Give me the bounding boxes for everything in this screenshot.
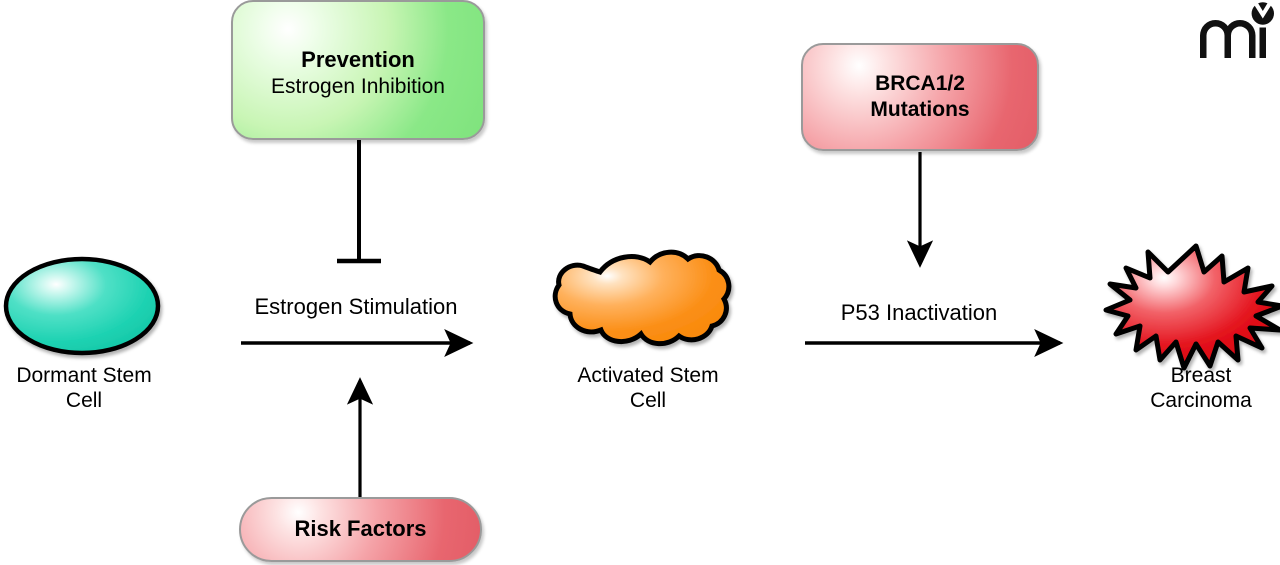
dormant-stem-cell-shape xyxy=(6,259,158,353)
risk-factors-box[interactable]: Risk Factors xyxy=(239,497,482,562)
mi-logo xyxy=(1197,2,1277,60)
brca-box-title: BRCA1/2 xyxy=(875,71,965,97)
diagram-canvas: Prevention Estrogen Inhibition BRCA1/2 M… xyxy=(0,0,1280,565)
prevention-box-subtitle: Estrogen Inhibition xyxy=(271,74,445,100)
estrogen-stimulation-label: Estrogen Stimulation xyxy=(214,294,498,320)
breast-carcinoma-shape xyxy=(1106,246,1280,368)
brca-box-subtitle: Mutations xyxy=(870,97,969,123)
breast-carcinoma-label: Breast Carcinoma xyxy=(1122,364,1280,414)
activated-stem-cell-label-line2: Cell xyxy=(559,389,737,414)
dormant-stem-cell-label: Dormant Stem Cell xyxy=(0,364,168,414)
activated-stem-cell-shape xyxy=(555,252,729,343)
mi-logo-icon xyxy=(1197,2,1277,60)
dormant-stem-cell-label-line1: Dormant Stem xyxy=(16,364,151,387)
cell-shapes-layer xyxy=(0,0,1280,565)
breast-carcinoma-label-line2: Carcinoma xyxy=(1122,389,1280,414)
prevention-inhibition-tbar xyxy=(337,139,381,261)
prevention-box[interactable]: Prevention Estrogen Inhibition xyxy=(231,0,485,140)
activated-stem-cell-label: Activated Stem Cell xyxy=(559,364,737,414)
breast-carcinoma-label-line1: Breast xyxy=(1171,364,1232,387)
brca-mutations-box[interactable]: BRCA1/2 Mutations xyxy=(801,43,1039,151)
risk-factors-box-title: Risk Factors xyxy=(294,516,426,543)
activated-stem-cell-label-line1: Activated Stem xyxy=(577,364,718,387)
connectors-layer xyxy=(0,0,1280,565)
p53-inactivation-label: P53 Inactivation xyxy=(790,300,1048,326)
dormant-stem-cell-label-line2: Cell xyxy=(0,389,168,414)
prevention-box-title: Prevention xyxy=(301,47,415,74)
